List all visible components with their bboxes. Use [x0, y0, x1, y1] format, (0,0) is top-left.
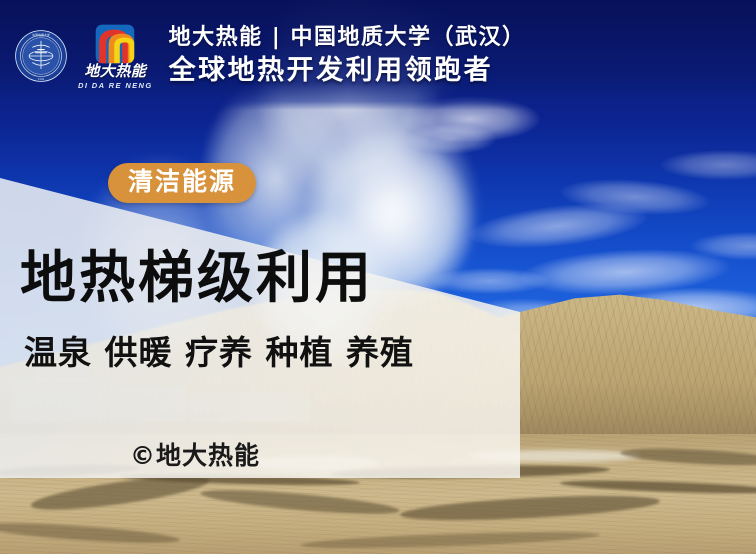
logo-wordmark-en: DI DA RE NENG	[78, 81, 153, 90]
header-title-secondary: 全球地热开发利用领跑者	[169, 55, 526, 87]
category-badge: 清洁能源	[108, 163, 256, 203]
logo-wordmark-cn: 地大热能	[84, 64, 146, 80]
copyright-notice: ©地大热能	[130, 436, 260, 472]
university-seal-icon: 中国地质大学 CUG	[14, 29, 68, 83]
poster-canvas: 中国地质大学 CUG 地大热能 DI DA RE NENG	[0, 0, 756, 554]
header-title-primary: 地大热能 | 中国地质大学（武汉）	[169, 24, 526, 52]
category-badge-label: 清洁能源	[128, 167, 236, 196]
page-subtitle: 温泉 供暖 疗养 种植 养殖	[24, 334, 414, 372]
svg-text:CUG: CUG	[38, 77, 45, 81]
rainbow-arch-logo-icon	[95, 24, 135, 64]
page-title: 地热梯级利用	[20, 248, 374, 311]
header-titles: 地大热能 | 中国地质大学（武汉） 全球地热开发利用领跑者	[169, 24, 526, 87]
company-logo-lockup: 地大热能 DI DA RE NENG	[78, 24, 153, 90]
svg-text:中国地质大学: 中国地质大学	[32, 32, 50, 37]
brand-lockup: 中国地质大学 CUG 地大热能 DI DA RE NENG	[14, 22, 525, 90]
